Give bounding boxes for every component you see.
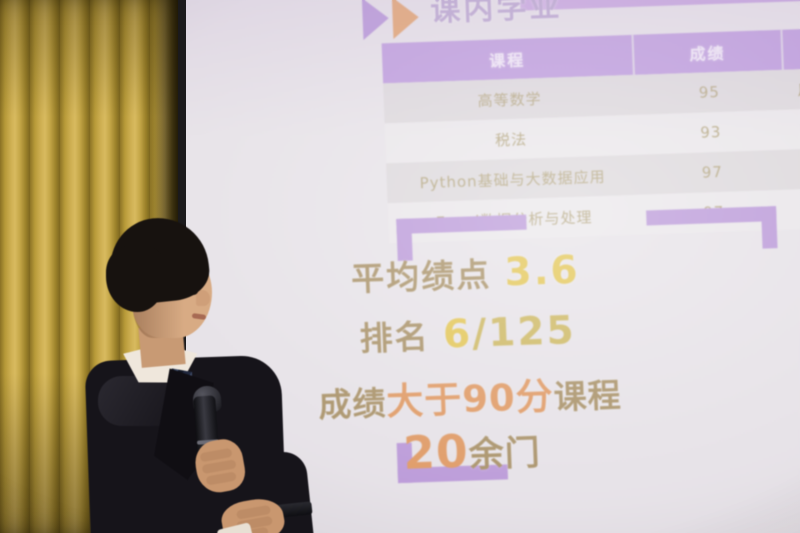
- photo-scene: 个人能力及成果 成果展示 课内学业 课程 成绩 高等数学 95 用友财务: [0, 0, 800, 533]
- cell-extra: 审: [784, 104, 800, 149]
- cell-extra: 用友财务: [783, 64, 800, 109]
- presenter-nose: [196, 290, 210, 306]
- highlight-above90-emphasis: 大于90分: [386, 375, 555, 424]
- column-header-score: 成绩: [631, 30, 782, 75]
- presenter-hair-back: [106, 246, 164, 312]
- highlight-rank-value: 6: [442, 312, 473, 358]
- cell-score: 97: [638, 150, 788, 195]
- cell-extra: 高级: [787, 184, 800, 229]
- highlight-count-suffix: 余门: [468, 433, 541, 475]
- highlight-above90-suffix: 课程: [553, 375, 622, 416]
- highlight-above90-prefix: 成绩: [318, 383, 387, 424]
- chevron-orange-icon: [392, 0, 420, 39]
- highlight-gpa-label: 平均绩点: [350, 255, 491, 299]
- cell-score: 93: [636, 110, 786, 155]
- highlight-rank-total: /125: [471, 308, 576, 356]
- cell-extra: 内: [786, 144, 800, 189]
- section-title: 课内学业: [429, 0, 563, 30]
- chevron-purple-icon: [362, 0, 390, 40]
- highlight-count-value: 20: [402, 425, 469, 480]
- presenter: [92, 218, 322, 533]
- finger: [206, 471, 237, 485]
- highlight-rank-label: 排名: [359, 317, 430, 358]
- highlight-gpa-value: 3.6: [504, 248, 581, 296]
- column-header-extra: [780, 24, 800, 69]
- cell-score: 95: [635, 70, 785, 115]
